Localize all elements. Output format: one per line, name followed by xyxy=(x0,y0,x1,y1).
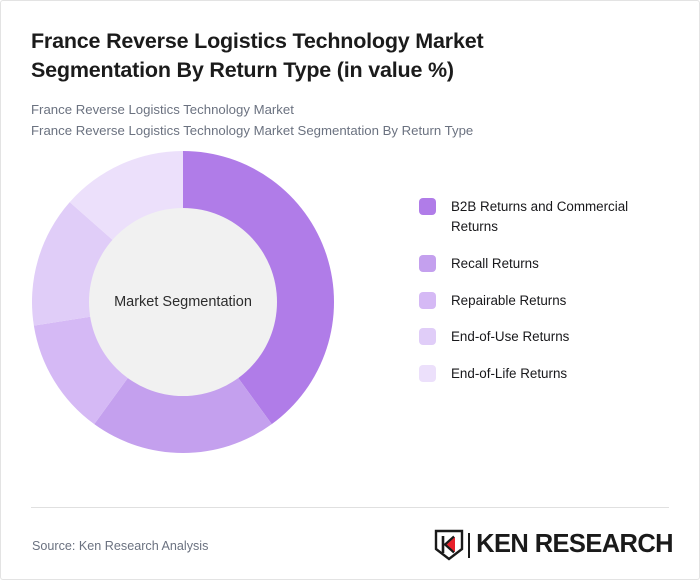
chart-card: France Reverse Logistics Technology Mark… xyxy=(0,0,700,580)
legend-item-label: Repairable Returns xyxy=(451,291,566,311)
source-note: Source: Ken Research Analysis xyxy=(32,539,208,553)
legend-item[interactable]: B2B Returns and Commercial Returns xyxy=(419,197,674,237)
chart-legend: B2B Returns and Commercial ReturnsRecall… xyxy=(419,197,674,401)
subtitle-line-2: France Reverse Logistics Technology Mark… xyxy=(31,121,669,141)
legend-item-label: Recall Returns xyxy=(451,254,539,274)
donut-hole xyxy=(89,208,277,396)
legend-swatch-icon xyxy=(419,198,436,215)
legend-item[interactable]: End-of-Life Returns xyxy=(419,364,674,384)
legend-swatch-icon xyxy=(419,328,436,345)
donut-chart: Market Segmentation xyxy=(32,151,334,453)
ken-research-shield-k-logo-icon xyxy=(434,529,464,561)
page-title: France Reverse Logistics Technology Mark… xyxy=(31,27,561,84)
footer-divider xyxy=(31,507,669,508)
legend-item[interactable]: Repairable Returns xyxy=(419,291,674,311)
legend-item-label: B2B Returns and Commercial Returns xyxy=(451,197,674,237)
legend-swatch-icon xyxy=(419,292,436,309)
legend-item[interactable]: Recall Returns xyxy=(419,254,674,274)
legend-item-label: End-of-Life Returns xyxy=(451,364,567,384)
chart-header: France Reverse Logistics Technology Mark… xyxy=(1,1,699,141)
donut-svg xyxy=(32,151,334,453)
legend-item[interactable]: End-of-Use Returns xyxy=(419,327,674,347)
logo-divider xyxy=(468,533,470,558)
chart-body: Market Segmentation B2B Returns and Comm… xyxy=(1,141,699,471)
subtitle-line-1: France Reverse Logistics Technology Mark… xyxy=(31,100,669,120)
legend-swatch-icon xyxy=(419,255,436,272)
logo-wordmark: KEN RESEARCH xyxy=(476,532,673,558)
legend-swatch-icon xyxy=(419,365,436,382)
chart-footer: Source: Ken Research Analysis KEN RESEAR… xyxy=(1,507,699,579)
ken-research-logo: KEN RESEARCH xyxy=(434,529,673,561)
legend-item-label: End-of-Use Returns xyxy=(451,327,569,347)
subtitle-block: France Reverse Logistics Technology Mark… xyxy=(31,100,669,141)
